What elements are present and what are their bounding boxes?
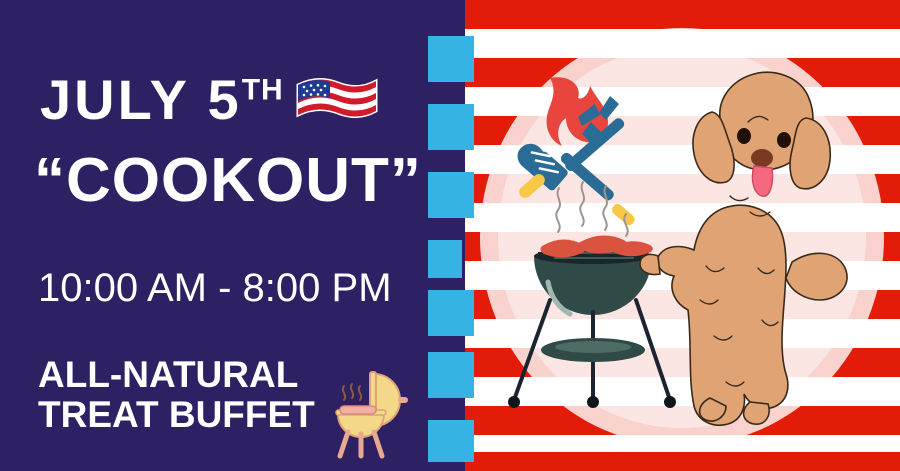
headline-date-ordinal: TH xyxy=(242,73,284,106)
standing-poodle-dog-illustration xyxy=(640,72,847,425)
cookout-illustration xyxy=(462,0,900,471)
grill-foot xyxy=(664,396,676,408)
headline-cookout: “COOKOUT” xyxy=(34,150,422,212)
dog-eye-right xyxy=(777,132,791,148)
event-subtitle-line2: TREAT BUFFET xyxy=(38,395,315,435)
dog-eye-left xyxy=(737,128,751,144)
grill-foot xyxy=(508,396,520,408)
event-subtitle-line1: ALL-NATURAL xyxy=(38,355,315,395)
us-flag-icon xyxy=(294,75,380,125)
headline-date: JULY 5TH xyxy=(40,72,380,128)
bbq-grill-icon xyxy=(318,360,418,460)
dog-nose xyxy=(751,149,773,167)
poster-canvas: JULY 5TH “COOKOUT” 10:00 AM - 8:00 PM AL… xyxy=(0,0,900,471)
dog-tongue xyxy=(752,166,772,196)
headline-date-main: JULY 5 xyxy=(40,68,242,131)
event-hours: 10:00 AM - 8:00 PM xyxy=(38,268,392,308)
blue-tab xyxy=(428,240,462,278)
grill-foot xyxy=(587,396,599,408)
event-subtitle: ALL-NATURAL TREAT BUFFET xyxy=(38,355,315,435)
